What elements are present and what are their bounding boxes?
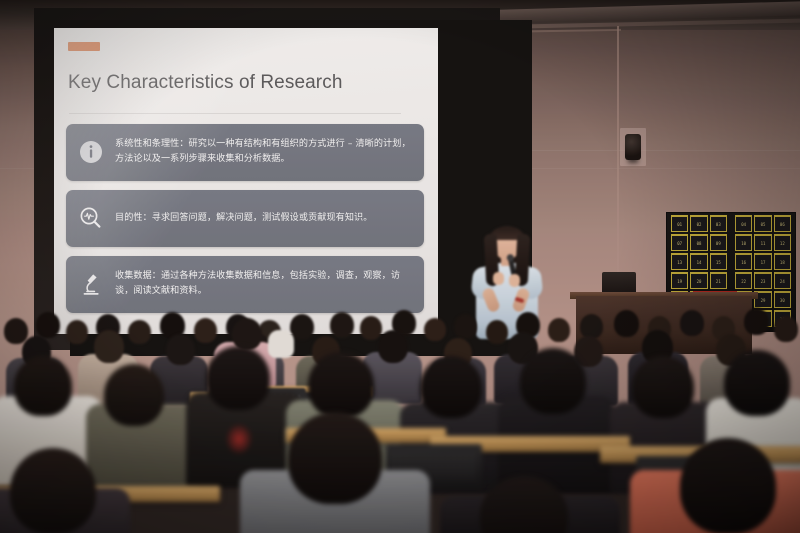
accent-bar — [68, 42, 100, 51]
title-divider — [69, 113, 401, 114]
presenter-hand-left — [493, 272, 504, 285]
list-item-text: 收集数据：通过各种方法收集数据和信息，包括实验，调查，观察，访谈，阅读文献和资料… — [115, 269, 412, 298]
podium — [576, 296, 752, 354]
magnifier-pulse-icon — [76, 203, 106, 233]
microscope-icon — [76, 269, 106, 299]
list-item: 收集数据：通过各种方法收集数据和信息，包括实验，调查，观察，访谈，阅读文献和资料… — [66, 256, 424, 313]
lecture-hall-photo: Key Characteristics of Research 系统性和条理性：… — [0, 0, 800, 533]
presenter — [468, 222, 546, 352]
info-circle-icon — [76, 137, 106, 167]
conduit-vertical — [617, 26, 619, 296]
list-item: 目的性：寻求回答问题，解决问题，测试假设或贡献现有知识。 — [66, 190, 424, 247]
page-title: Key Characteristics of Research — [68, 72, 418, 94]
presentation-slide: Key Characteristics of Research 系统性和条理性：… — [54, 28, 438, 334]
slide-bullet-list: 系统性和条理性：研究以一种有结构和有组织的方式进行 – 清晰的计划，方法论以及一… — [66, 124, 424, 322]
list-item-text: 系统性和条理性：研究以一种有结构和有组织的方式进行 – 清晰的计划，方法论以及一… — [115, 137, 412, 166]
camera-icon — [620, 128, 646, 166]
presenter-hand-right — [509, 274, 520, 287]
list-item-text: 目的性：寻求回答问题，解决问题，测试假设或贡献现有知识。 — [115, 211, 412, 226]
list-item: 系统性和条理性：研究以一种有结构和有组织的方式进行 – 清晰的计划，方法论以及一… — [66, 124, 424, 181]
